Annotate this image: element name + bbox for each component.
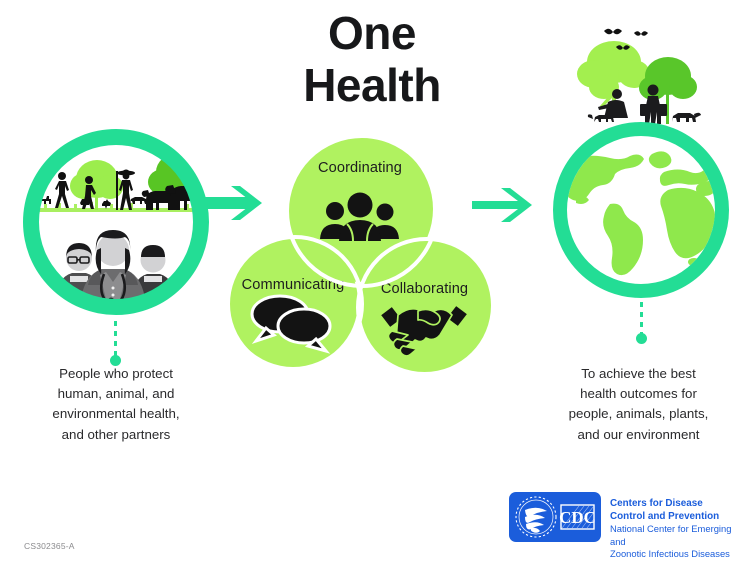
right-node-caption: To achieve the best health outcomes for … — [536, 364, 741, 445]
left-node-caption: People who protect human, animal, and en… — [16, 364, 216, 445]
left-node-illustration — [18, 124, 214, 320]
caption-line: environmental health, — [52, 406, 179, 421]
caption-line: health outcomes for — [580, 386, 697, 401]
caption-line: people, animals, plants, — [569, 406, 709, 421]
cdc-agency-text: Centers for Disease Control and Preventi… — [610, 492, 744, 561]
cdc-badge: CDC — [509, 492, 601, 542]
cdc-line-4: Zoonotic Infectious Diseases — [610, 548, 744, 561]
arrow-center-to-right — [466, 185, 538, 230]
caption-line: and other partners — [62, 427, 171, 442]
cdc-logo: CDC Centers for Disease Control and Prev… — [509, 492, 744, 561]
one-health-infographic: One Health — [0, 0, 744, 565]
cdc-line-1: Centers for Disease — [610, 497, 744, 510]
arrow-right-icon — [196, 183, 270, 223]
arrow-left-to-center — [196, 183, 270, 228]
globe-with-trees-and-people-illustration — [546, 14, 736, 334]
venn-circle-communicating: Communicating — [228, 237, 358, 367]
caption-line: and our environment — [578, 427, 700, 442]
right-node-illustration — [546, 14, 736, 334]
cdc-line-3: National Center for Emerging and — [610, 523, 744, 548]
cs-code-label: CS302365-A — [24, 541, 75, 551]
hhs-eagle-icon: CDC — [509, 492, 601, 542]
caption-line: People who protect — [59, 366, 173, 381]
right-connector-dot — [636, 333, 647, 344]
caption-line: human, animal, and — [58, 386, 175, 401]
venn-circle-collaborating: Collaborating — [358, 239, 491, 372]
arrow-right-icon — [466, 185, 538, 225]
caption-line: To achieve the best — [581, 366, 696, 381]
speech-bubbles-icon — [228, 237, 358, 367]
handshake-icon — [358, 239, 491, 372]
svg-text:CDC: CDC — [559, 508, 596, 527]
cdc-line-2: Control and Prevention — [610, 510, 744, 523]
people-animals-environment-illustration — [18, 124, 214, 320]
